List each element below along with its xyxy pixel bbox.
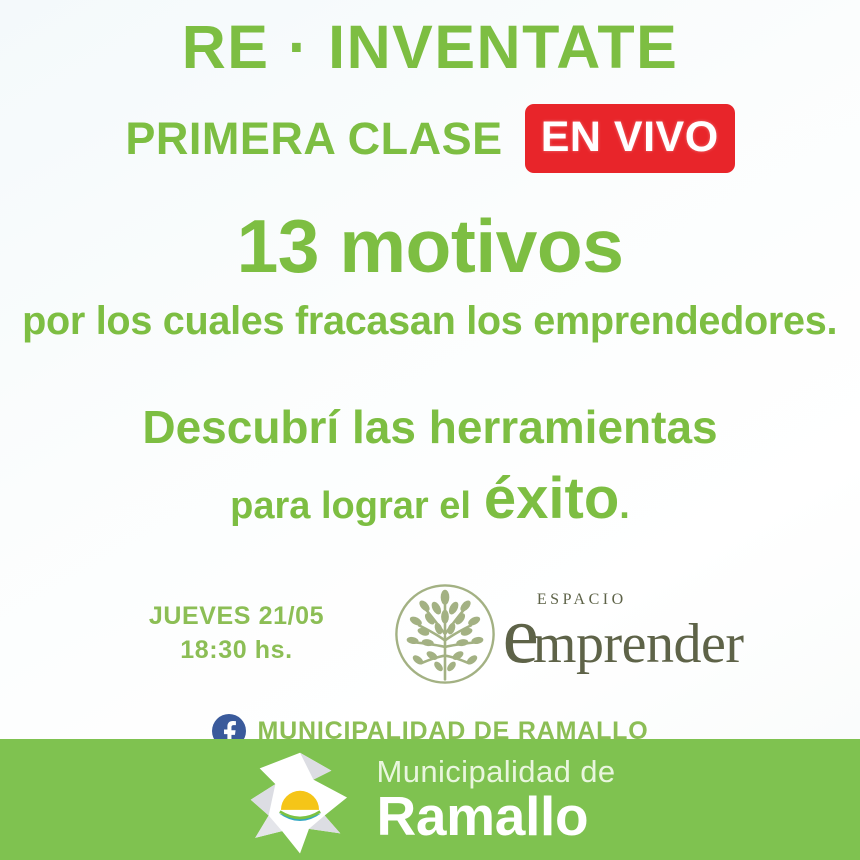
emprender-tagline: ESPACIO <box>537 592 627 608</box>
municipality-prefix: Municipalidad de <box>376 756 615 787</box>
cta-suffix: . <box>619 487 630 525</box>
emprender-initial: e <box>503 601 537 668</box>
promo-poster: RE · INVENTATE PRIMERA CLASE EN VIVO 13 … <box>0 0 860 860</box>
status-badge: EN VIVO <box>525 104 735 173</box>
cta-prefix: para lograr el <box>230 487 471 525</box>
emprender-wordmark: e ESPACIO mprender <box>503 601 744 668</box>
espacio-emprender-logo: e ESPACIO mprender <box>391 580 744 688</box>
event-datetime: JUEVES 21/05 18:30 hs. <box>117 600 357 668</box>
cta-line-one: Descubrí las herramientas <box>142 404 717 450</box>
event-date: JUEVES 21/05 <box>117 600 357 634</box>
municipality-name: Ramallo <box>376 789 615 844</box>
subtitle-row: PRIMERA CLASE EN VIVO <box>125 104 734 173</box>
ramallo-sun-emblem-icon <box>244 746 356 858</box>
headline-secondary: por los cuales fracasan los emprendedore… <box>22 300 837 342</box>
cta-emphasis: éxito <box>484 470 619 528</box>
cta-line-two: para lograr el éxito . <box>230 470 630 528</box>
event-time: 18:30 hs. <box>117 634 357 668</box>
emprender-text-stack: ESPACIO mprender <box>533 622 744 668</box>
page-title: RE · INVENTATE <box>182 12 679 82</box>
municipality-wordmark: Municipalidad de Ramallo <box>376 756 615 844</box>
headline-primary: 13 motivos <box>237 209 624 284</box>
footer-banner: Municipalidad de Ramallo <box>0 739 860 860</box>
event-info-row: JUEVES 21/05 18:30 hs. <box>0 580 860 688</box>
emprender-name: mprender <box>533 613 744 675</box>
poster-content: RE · INVENTATE PRIMERA CLASE EN VIVO 13 … <box>0 0 860 739</box>
subtitle-text: PRIMERA CLASE <box>125 116 502 161</box>
tree-of-life-icon <box>391 580 499 688</box>
